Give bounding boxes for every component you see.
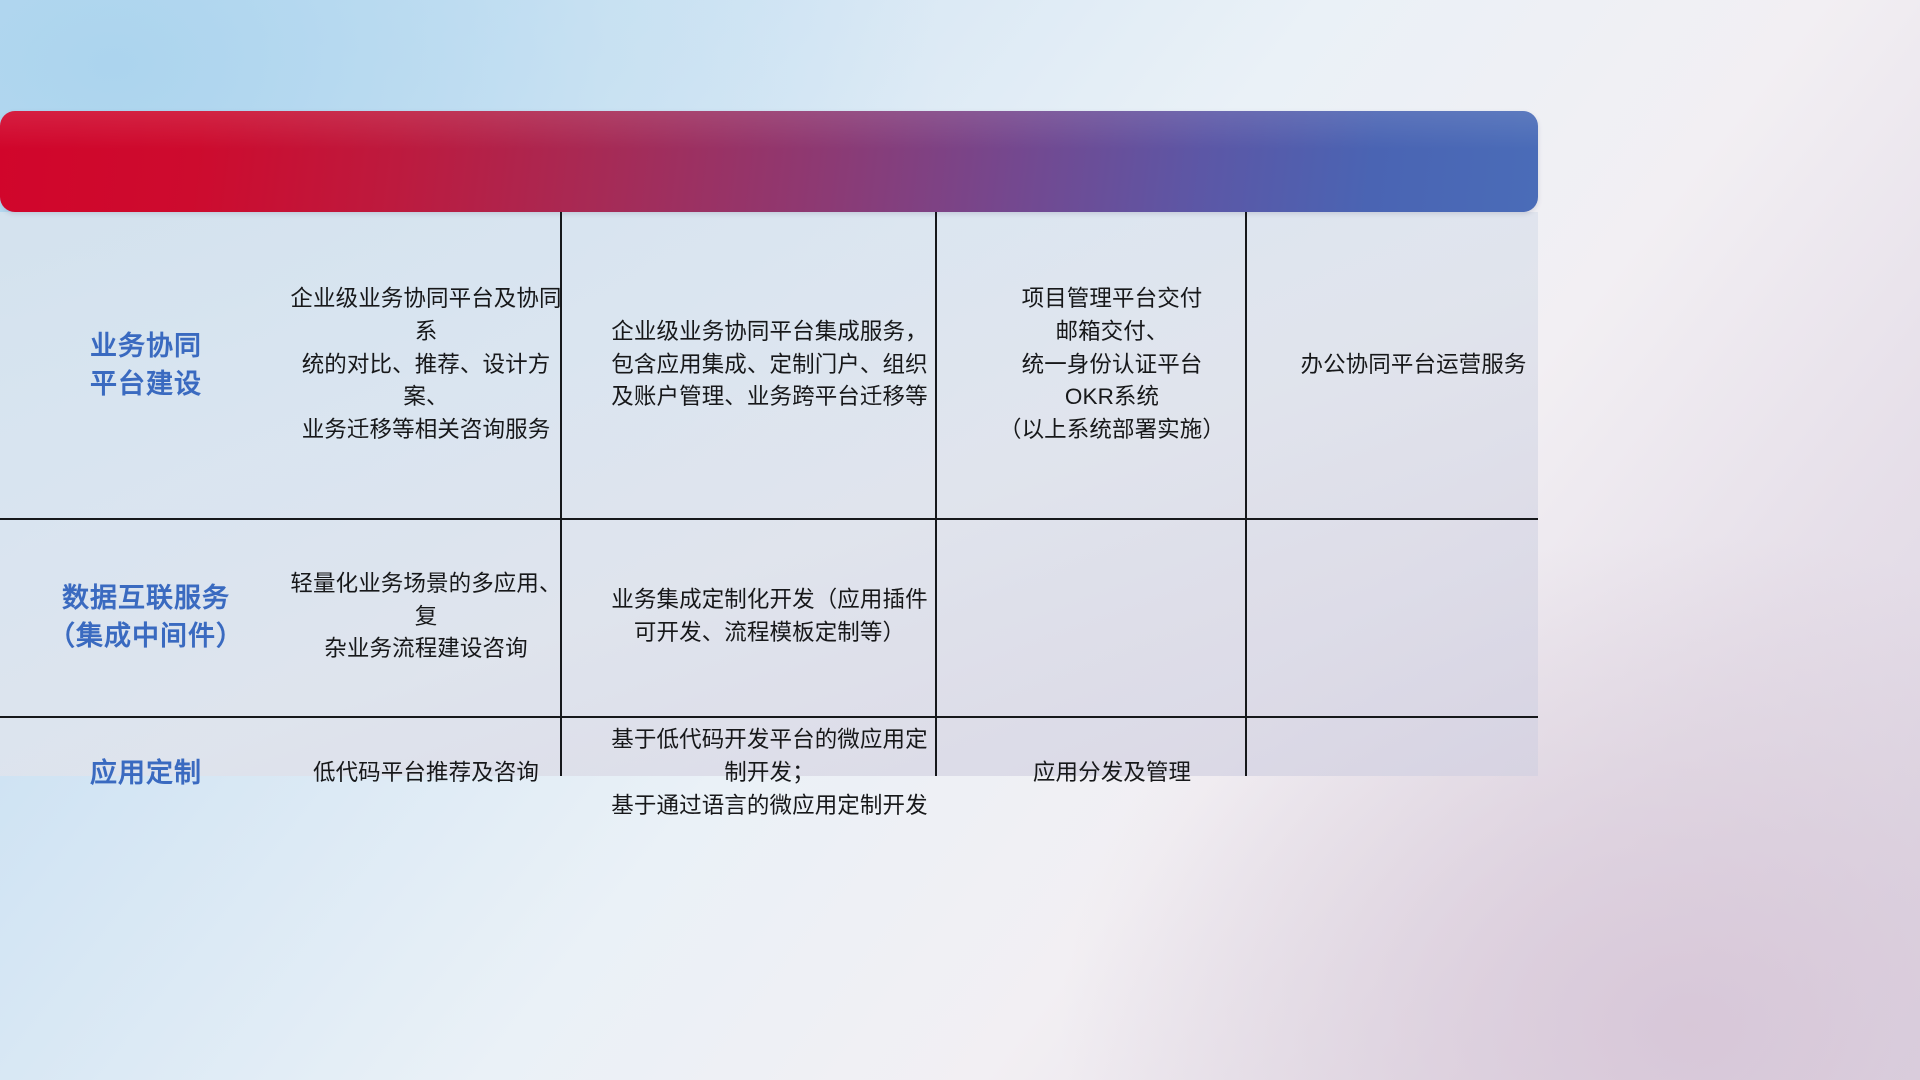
table-row: 数据互联服务 （集成中间件） 轻量化业务场景的多应用、复 杂业务流程建设咨询 业…: [22, 518, 1560, 716]
service-matrix: 服务类别 咨询 开发 交付 运维 业务协同 平台建设 企业级业务协同平台及协同系…: [22, 111, 1560, 831]
table-row: 应用定制 低代码平台推荐及咨询 基于低代码开发平台的微应用定 制开发； 基于通过…: [22, 716, 1560, 831]
cell-delivery-row1: 项目管理平台交付 邮箱交付、 统一身份认证平台 OKR系统 （以上系统部署实施）: [957, 212, 1267, 518]
column-divider-1: [560, 212, 562, 776]
cell-development-row1: 企业级业务协同平台集成服务， 包含应用集成、定制门户、组织 及账户管理、业务跨平…: [582, 212, 957, 518]
cell-operations-row3: [1267, 716, 1560, 831]
cell-category-row1: 业务协同 平台建设: [22, 212, 270, 518]
table-body: 业务协同 平台建设 企业级业务协同平台及协同系 统的对比、推荐、设计方案、 业务…: [22, 212, 1560, 831]
cell-consulting-row3: 低代码平台推荐及咨询: [270, 716, 582, 831]
cell-category-row2: 数据互联服务 （集成中间件）: [22, 518, 270, 716]
cell-development-row3: 基于低代码开发平台的微应用定 制开发； 基于通过语言的微应用定制开发: [582, 716, 957, 831]
cell-delivery-row3: 应用分发及管理: [957, 716, 1267, 831]
table-header-band: [0, 111, 1538, 212]
cell-consulting-row2: 轻量化业务场景的多应用、复 杂业务流程建设咨询: [270, 518, 582, 716]
cell-operations-row1: 办公协同平台运营服务: [1267, 212, 1560, 518]
row-separator-1: [0, 518, 1538, 520]
row-separator-2: [0, 716, 1538, 718]
cell-category-row3: 应用定制: [22, 716, 270, 831]
table-row: 业务协同 平台建设 企业级业务协同平台及协同系 统的对比、推荐、设计方案、 业务…: [22, 212, 1560, 518]
column-divider-2: [935, 212, 937, 776]
cell-consulting-row1: 企业级业务协同平台及协同系 统的对比、推荐、设计方案、 业务迁移等相关咨询服务: [270, 212, 582, 518]
cell-delivery-row2: [957, 518, 1267, 716]
cell-operations-row2: [1267, 518, 1560, 716]
column-divider-3: [1245, 212, 1247, 776]
cell-development-row2: 业务集成定制化开发（应用插件 可开发、流程模板定制等）: [582, 518, 957, 716]
slide-canvas: 服务类别 咨询 开发 交付 运维 业务协同 平台建设 企业级业务协同平台及协同系…: [0, 0, 1920, 1080]
